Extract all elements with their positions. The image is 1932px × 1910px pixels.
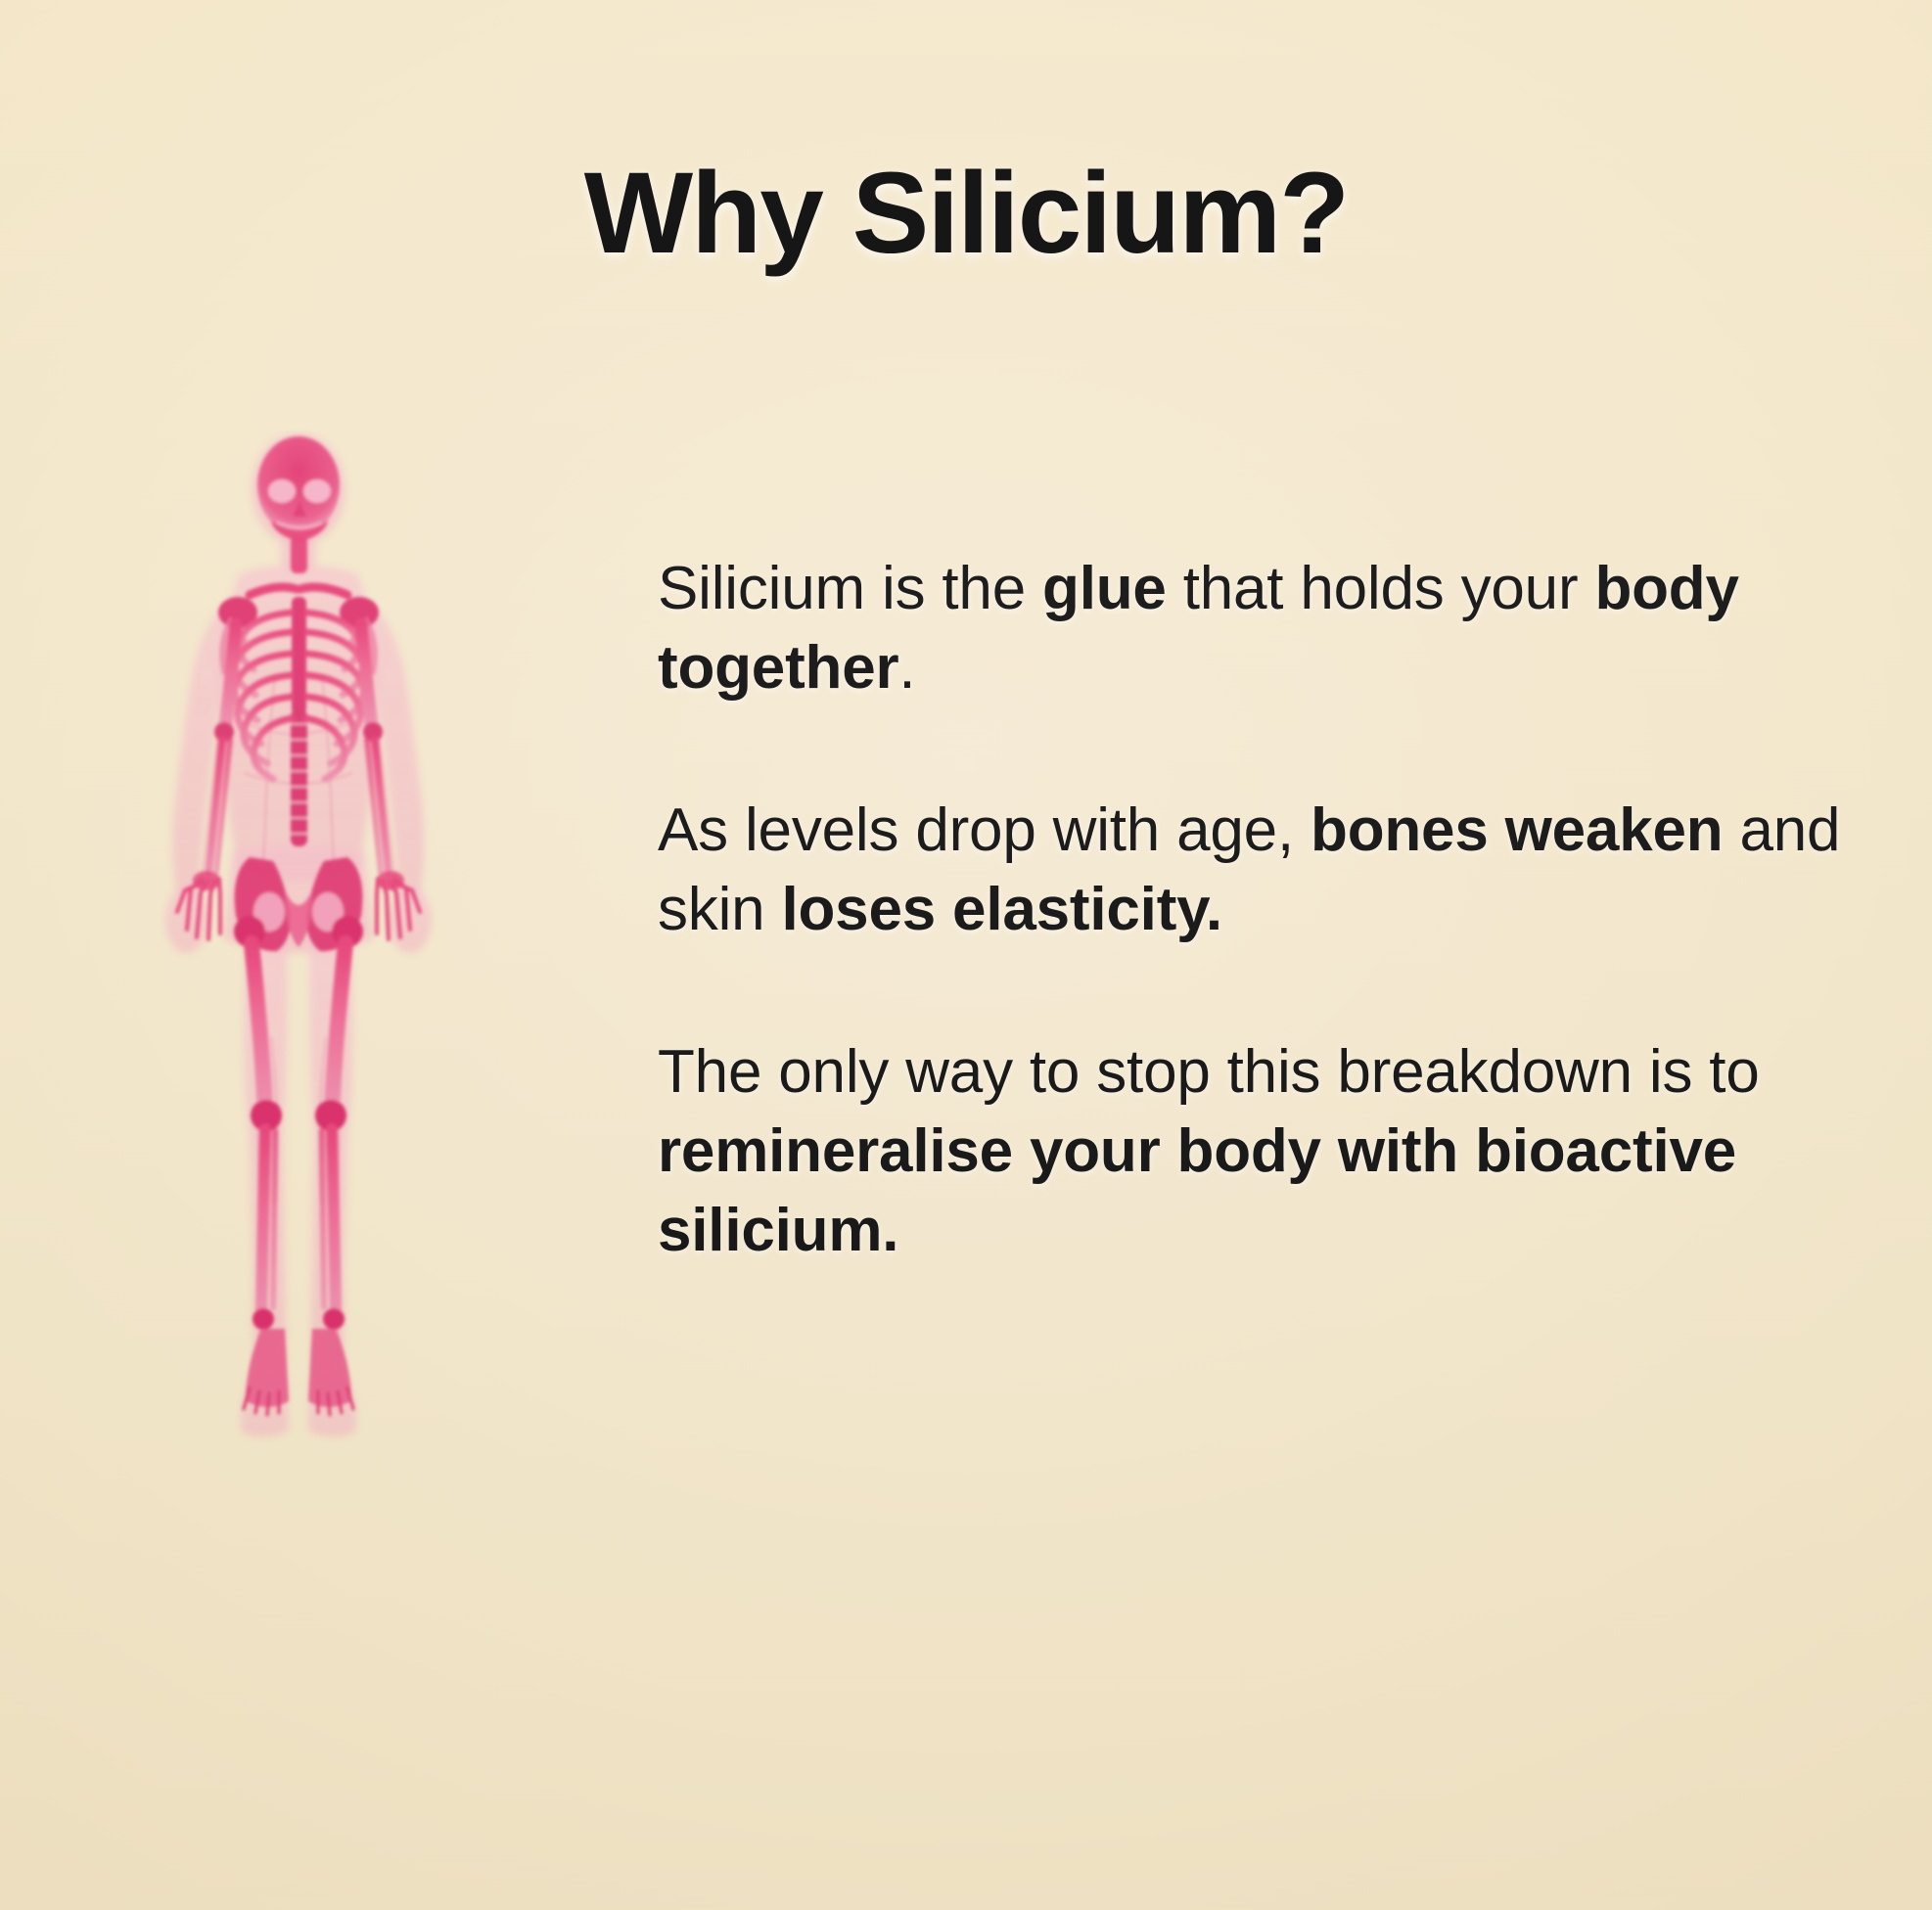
infographic-page: Why Silicium? (0, 0, 1932, 1910)
page-title: Why Silicium? (0, 148, 1932, 281)
body-text-column: Silicium is the glue that holds your bod… (658, 550, 1901, 1270)
text-run: . (898, 634, 915, 702)
text-run: bones weaken (1311, 796, 1723, 864)
text-run: remineralise your body with bioactive si… (658, 1117, 1736, 1264)
paragraph-aging: As levels drop with age, bones weaken an… (658, 792, 1901, 949)
paragraph-glue: Silicium is the glue that holds your bod… (658, 550, 1901, 707)
text-run: loses elasticity. (781, 876, 1221, 943)
text-run: Silicium is the (658, 555, 1042, 622)
text-run: As levels drop with age, (658, 796, 1311, 864)
paragraph-remineralise: The only way to stop this breakdown is t… (658, 1033, 1901, 1270)
anatomical-skeleton-illustration (93, 431, 504, 1458)
text-run: that holds your (1167, 555, 1595, 622)
text-run: The only way to stop this breakdown is t… (658, 1038, 1760, 1106)
text-run: glue (1042, 555, 1167, 622)
